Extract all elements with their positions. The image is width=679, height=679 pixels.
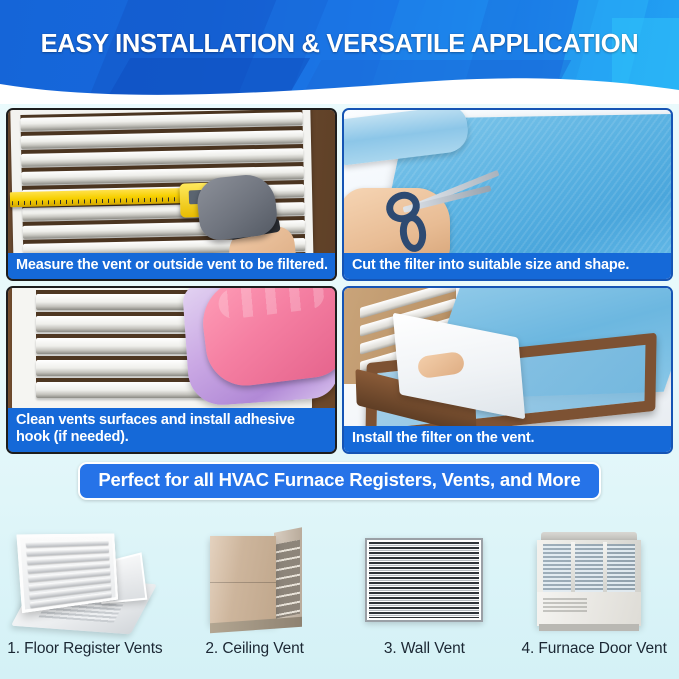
mid-banner-wrapper: Perfect for all HVAC Furnace Registers, … [0,462,679,500]
step-caption: Install the filter on the vent. [344,426,671,452]
step-caption: Clean vents surfaces and install adhesiv… [8,408,335,452]
steps-grid: Measure the vent or outside vent to be f… [6,108,673,454]
product-label: 4. Furnace Door Vent [521,640,666,658]
product-item: 2. Ceiling Vent [170,508,340,658]
wall-vent-grille-icon [345,528,503,636]
step-caption: Cut the filter into suitable size and sh… [344,253,671,279]
step-panel-clean: Clean vents surfaces and install adhesiv… [6,286,337,454]
product-item: 3. Wall Vent [340,508,510,658]
step-panel-install: Install the filter on the vent. [342,286,673,454]
pink-rubber-glove [198,288,335,390]
step-panel-cut: Cut the filter into suitable size and sh… [342,108,673,281]
product-label: 3. Wall Vent [384,640,465,658]
product-label: 1. Floor Register Vents [7,640,162,658]
floor-register-vent-icon [6,528,164,636]
header-banner: EASY INSTALLATION & VERSATILE APPLICATIO… [0,0,679,104]
step-caption: Measure the vent or outside vent to be f… [8,253,335,279]
ceiling-vent-unit-icon [176,528,334,636]
compatibility-banner: Perfect for all HVAC Furnace Registers, … [78,462,600,500]
step-panel-measure: Measure the vent or outside vent to be f… [6,108,337,281]
infographic-page: EASY INSTALLATION & VERSATILE APPLICATIO… [0,0,679,679]
page-title: EASY INSTALLATION & VERSATILE APPLICATIO… [0,30,679,59]
product-item: 1. Floor Register Vents [0,508,170,658]
gray-work-glove [195,172,279,242]
header-wave-divider [0,66,679,104]
product-types-row: 1. Floor Register Vents 2. Ceiling Vent … [0,508,679,658]
product-item: 4. Furnace Door Vent [509,508,679,658]
product-label: 2. Ceiling Vent [205,640,303,658]
furnace-door-vent-unit-icon [515,528,673,636]
